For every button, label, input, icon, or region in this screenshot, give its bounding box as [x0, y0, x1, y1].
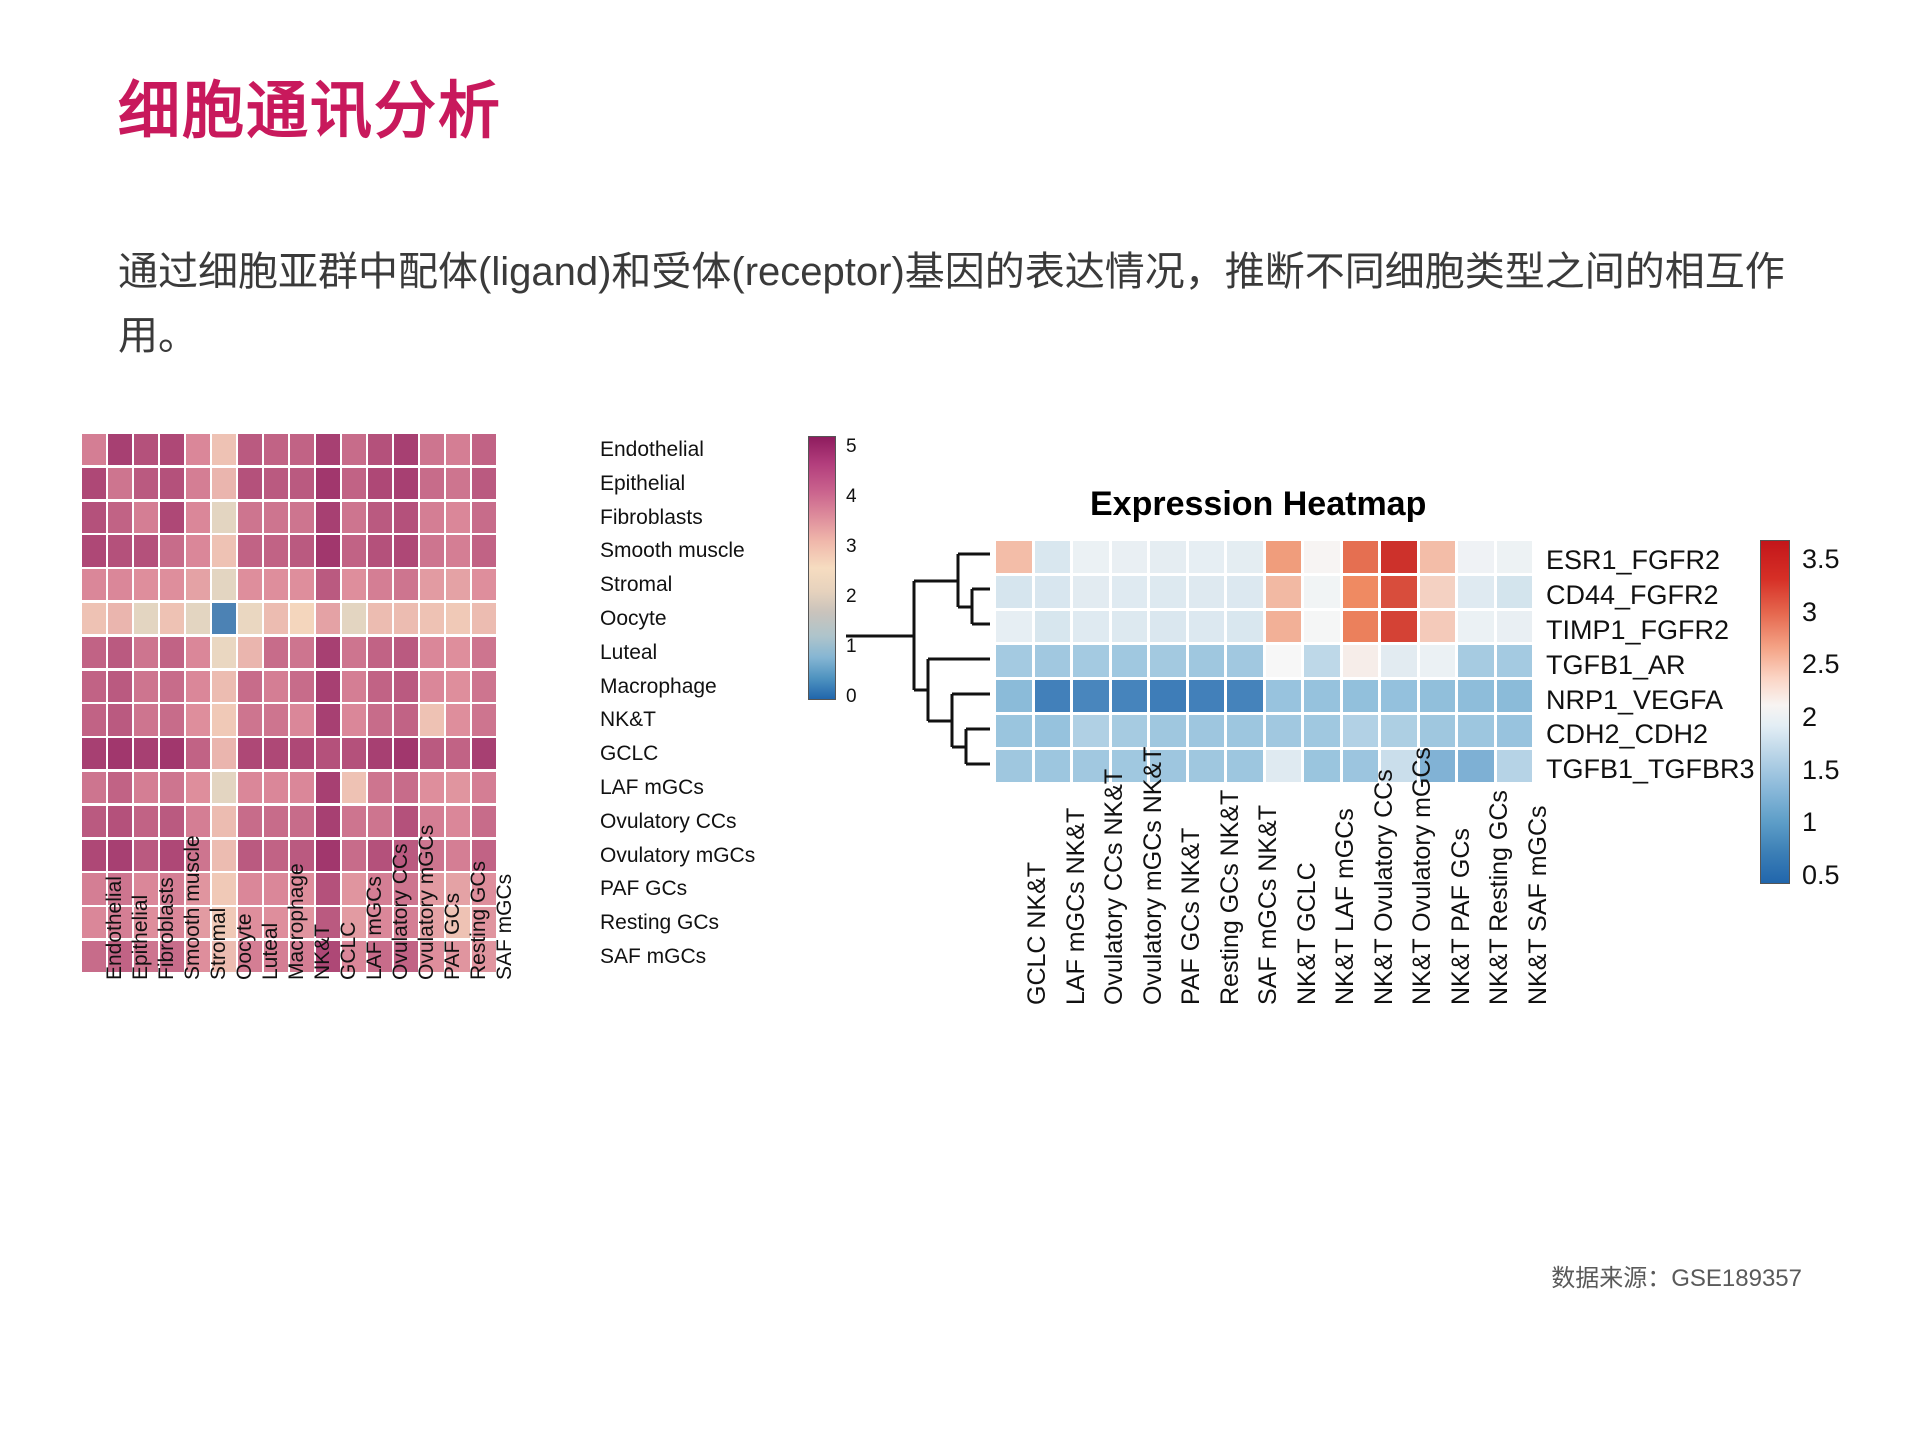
heatmap-cell[interactable]: [996, 611, 1032, 643]
heatmap-cell[interactable]: [264, 772, 288, 803]
heatmap-cell[interactable]: [316, 671, 340, 702]
heatmap-cell[interactable]: [368, 468, 392, 499]
heatmap-cell[interactable]: [1227, 680, 1263, 712]
heatmap-cell[interactable]: [264, 806, 288, 837]
heatmap-cell[interactable]: [1035, 715, 1071, 747]
heatmap-cell[interactable]: [342, 806, 366, 837]
heatmap-cell[interactable]: [1227, 576, 1263, 608]
heatmap-cell[interactable]: [1304, 750, 1340, 782]
heatmap-cell[interactable]: [446, 637, 470, 668]
heatmap-cell[interactable]: [1381, 576, 1417, 608]
heatmap-cell[interactable]: [82, 941, 106, 972]
heatmap-cell[interactable]: [238, 738, 262, 769]
heatmap-cell[interactable]: [82, 603, 106, 634]
heatmap-cell[interactable]: [186, 738, 210, 769]
heatmap-cell[interactable]: [186, 637, 210, 668]
heatmap-cell[interactable]: [1150, 645, 1186, 677]
heatmap-cell[interactable]: [342, 603, 366, 634]
heatmap-cell[interactable]: [446, 772, 470, 803]
heatmap-cell[interactable]: [394, 637, 418, 668]
heatmap-cell[interactable]: [316, 502, 340, 533]
heatmap-cell[interactable]: [1304, 576, 1340, 608]
heatmap-cell[interactable]: [368, 738, 392, 769]
heatmap-cell[interactable]: [1266, 680, 1302, 712]
heatmap-cell[interactable]: [1112, 645, 1148, 677]
heatmap-cell[interactable]: [238, 840, 262, 871]
heatmap-cell[interactable]: [1150, 576, 1186, 608]
heatmap-cell[interactable]: [1343, 715, 1379, 747]
heatmap-cell[interactable]: [342, 840, 366, 871]
heatmap-cell[interactable]: [420, 603, 444, 634]
heatmap-cell[interactable]: [472, 434, 496, 465]
heatmap-cell[interactable]: [134, 840, 158, 871]
heatmap-cell[interactable]: [1189, 680, 1225, 712]
heatmap-cell[interactable]: [446, 704, 470, 735]
heatmap-cell[interactable]: [1497, 576, 1533, 608]
heatmap-cell[interactable]: [290, 772, 314, 803]
heatmap-cell[interactable]: [1112, 576, 1148, 608]
heatmap-cell[interactable]: [212, 704, 236, 735]
heatmap-cell[interactable]: [186, 434, 210, 465]
heatmap-cell[interactable]: [108, 772, 132, 803]
heatmap-cell[interactable]: [342, 502, 366, 533]
heatmap-cell[interactable]: [420, 468, 444, 499]
heatmap-cell[interactable]: [1112, 680, 1148, 712]
heatmap-cell[interactable]: [472, 738, 496, 769]
heatmap-cell[interactable]: [1420, 541, 1456, 573]
heatmap-cell[interactable]: [134, 806, 158, 837]
heatmap-cell[interactable]: [394, 806, 418, 837]
heatmap-cell[interactable]: [108, 502, 132, 533]
heatmap-cell[interactable]: [1458, 680, 1494, 712]
heatmap-cell[interactable]: [368, 434, 392, 465]
heatmap-cell[interactable]: [368, 671, 392, 702]
heatmap-cell[interactable]: [82, 434, 106, 465]
heatmap-cell[interactable]: [290, 535, 314, 566]
heatmap-cell[interactable]: [108, 468, 132, 499]
heatmap-cell[interactable]: [1343, 611, 1379, 643]
heatmap-cell[interactable]: [1073, 645, 1109, 677]
heatmap-cell[interactable]: [446, 671, 470, 702]
heatmap-cell[interactable]: [134, 637, 158, 668]
heatmap-cell[interactable]: [108, 569, 132, 600]
heatmap-cell[interactable]: [108, 671, 132, 702]
heatmap-cell[interactable]: [446, 468, 470, 499]
heatmap-cell[interactable]: [420, 637, 444, 668]
heatmap-cell[interactable]: [1381, 715, 1417, 747]
heatmap-cell[interactable]: [82, 772, 106, 803]
heatmap-cell[interactable]: [108, 434, 132, 465]
heatmap-cell[interactable]: [212, 603, 236, 634]
heatmap-cell[interactable]: [264, 840, 288, 871]
heatmap-cell[interactable]: [1266, 576, 1302, 608]
heatmap-cell[interactable]: [1189, 645, 1225, 677]
heatmap-cell[interactable]: [472, 704, 496, 735]
heatmap-cell[interactable]: [1304, 715, 1340, 747]
heatmap-cell[interactable]: [238, 434, 262, 465]
heatmap-cell[interactable]: [472, 535, 496, 566]
heatmap-cell[interactable]: [446, 603, 470, 634]
heatmap-cell[interactable]: [342, 569, 366, 600]
heatmap-cell[interactable]: [290, 671, 314, 702]
heatmap-cell[interactable]: [342, 468, 366, 499]
heatmap-cell[interactable]: [160, 502, 184, 533]
heatmap-cell[interactable]: [212, 772, 236, 803]
heatmap-cell[interactable]: [160, 806, 184, 837]
heatmap-cell[interactable]: [342, 704, 366, 735]
heatmap-cell[interactable]: [1073, 680, 1109, 712]
heatmap-cell[interactable]: [1112, 611, 1148, 643]
heatmap-cell[interactable]: [160, 468, 184, 499]
heatmap-cell[interactable]: [316, 840, 340, 871]
heatmap-cell[interactable]: [1458, 715, 1494, 747]
heatmap-cell[interactable]: [238, 535, 262, 566]
heatmap-cell[interactable]: [264, 671, 288, 702]
heatmap-cell[interactable]: [394, 468, 418, 499]
heatmap-cell[interactable]: [1458, 611, 1494, 643]
heatmap-cell[interactable]: [1189, 541, 1225, 573]
heatmap-cell[interactable]: [1458, 541, 1494, 573]
heatmap-cell[interactable]: [472, 569, 496, 600]
heatmap-cell[interactable]: [1150, 541, 1186, 573]
heatmap-cell[interactable]: [420, 502, 444, 533]
heatmap-cell[interactable]: [1458, 750, 1494, 782]
heatmap-cell[interactable]: [290, 468, 314, 499]
heatmap-cell[interactable]: [394, 603, 418, 634]
heatmap-cell[interactable]: [186, 806, 210, 837]
heatmap-cell[interactable]: [1035, 680, 1071, 712]
heatmap-cell[interactable]: [446, 502, 470, 533]
heatmap-cell[interactable]: [1073, 541, 1109, 573]
heatmap-cell[interactable]: [1266, 715, 1302, 747]
heatmap-cell[interactable]: [1304, 645, 1340, 677]
heatmap-cell[interactable]: [264, 603, 288, 634]
heatmap-cell[interactable]: [160, 535, 184, 566]
heatmap-cell[interactable]: [420, 569, 444, 600]
heatmap-cell[interactable]: [420, 772, 444, 803]
heatmap-cell[interactable]: [1189, 750, 1225, 782]
heatmap-cell[interactable]: [1381, 611, 1417, 643]
heatmap-cell[interactable]: [1035, 611, 1071, 643]
heatmap-cell[interactable]: [316, 603, 340, 634]
heatmap-cell[interactable]: [1381, 680, 1417, 712]
heatmap-cell[interactable]: [238, 569, 262, 600]
heatmap-cell[interactable]: [160, 704, 184, 735]
heatmap-cell[interactable]: [186, 704, 210, 735]
heatmap-cell[interactable]: [368, 637, 392, 668]
heatmap-cell[interactable]: [1227, 611, 1263, 643]
heatmap-cell[interactable]: [238, 704, 262, 735]
heatmap-cell[interactable]: [1343, 680, 1379, 712]
heatmap-cell[interactable]: [316, 434, 340, 465]
heatmap-cell[interactable]: [368, 704, 392, 735]
heatmap-cell[interactable]: [1150, 611, 1186, 643]
heatmap-cell[interactable]: [1266, 750, 1302, 782]
heatmap-cell[interactable]: [134, 434, 158, 465]
heatmap-cell[interactable]: [394, 569, 418, 600]
heatmap-cell[interactable]: [1497, 750, 1533, 782]
heatmap-cell[interactable]: [1035, 645, 1071, 677]
heatmap-cell[interactable]: [446, 806, 470, 837]
heatmap-cell[interactable]: [160, 772, 184, 803]
heatmap-cell[interactable]: [394, 535, 418, 566]
heatmap-cell[interactable]: [1458, 576, 1494, 608]
heatmap-cell[interactable]: [1497, 611, 1533, 643]
heatmap-cell[interactable]: [108, 637, 132, 668]
heatmap-cell[interactable]: [212, 873, 236, 904]
heatmap-cell[interactable]: [996, 576, 1032, 608]
heatmap-cell[interactable]: [446, 434, 470, 465]
heatmap-cell[interactable]: [160, 637, 184, 668]
heatmap-cell[interactable]: [1073, 611, 1109, 643]
heatmap-cell[interactable]: [212, 569, 236, 600]
heatmap-cell[interactable]: [1343, 645, 1379, 677]
heatmap-cell[interactable]: [160, 603, 184, 634]
heatmap-cell[interactable]: [82, 806, 106, 837]
heatmap-cell[interactable]: [1420, 611, 1456, 643]
heatmap-cell[interactable]: [1420, 576, 1456, 608]
heatmap-cell[interactable]: [212, 671, 236, 702]
heatmap-cell[interactable]: [1497, 715, 1533, 747]
heatmap-cell[interactable]: [238, 603, 262, 634]
heatmap-cell[interactable]: [1189, 611, 1225, 643]
heatmap-cell[interactable]: [316, 535, 340, 566]
heatmap-cell[interactable]: [368, 772, 392, 803]
heatmap-cell[interactable]: [446, 840, 470, 871]
heatmap-cell[interactable]: [420, 434, 444, 465]
heatmap-cell[interactable]: [238, 637, 262, 668]
heatmap-cell[interactable]: [238, 468, 262, 499]
heatmap-cell[interactable]: [996, 750, 1032, 782]
heatmap-cell[interactable]: [368, 535, 392, 566]
heatmap-cell[interactable]: [186, 569, 210, 600]
heatmap-cell[interactable]: [996, 645, 1032, 677]
heatmap-cell[interactable]: [212, 840, 236, 871]
heatmap-cell[interactable]: [316, 468, 340, 499]
heatmap-cell[interactable]: [368, 840, 392, 871]
heatmap-cell[interactable]: [472, 637, 496, 668]
heatmap-cell[interactable]: [134, 772, 158, 803]
heatmap-cell[interactable]: [472, 502, 496, 533]
heatmap-cell[interactable]: [134, 502, 158, 533]
heatmap-cell[interactable]: [1112, 541, 1148, 573]
heatmap-cell[interactable]: [472, 671, 496, 702]
heatmap-cell[interactable]: [368, 603, 392, 634]
heatmap-cell[interactable]: [82, 873, 106, 904]
heatmap-cell[interactable]: [134, 468, 158, 499]
heatmap-cell[interactable]: [472, 772, 496, 803]
heatmap-cell[interactable]: [1035, 541, 1071, 573]
heatmap-cell[interactable]: [1035, 576, 1071, 608]
heatmap-cell[interactable]: [290, 569, 314, 600]
heatmap-cell[interactable]: [420, 671, 444, 702]
heatmap-cell[interactable]: [290, 603, 314, 634]
heatmap-cell[interactable]: [1420, 645, 1456, 677]
heatmap-cell[interactable]: [264, 434, 288, 465]
heatmap-cell[interactable]: [996, 680, 1032, 712]
heatmap-cell[interactable]: [316, 569, 340, 600]
heatmap-cell[interactable]: [1227, 645, 1263, 677]
heatmap-cell[interactable]: [1497, 541, 1533, 573]
heatmap-cell[interactable]: [238, 873, 262, 904]
heatmap-cell[interactable]: [1227, 750, 1263, 782]
heatmap-cell[interactable]: [1035, 750, 1071, 782]
heatmap-cell[interactable]: [212, 637, 236, 668]
heatmap-cell[interactable]: [212, 502, 236, 533]
heatmap-cell[interactable]: [472, 806, 496, 837]
heatmap-cell[interactable]: [1381, 645, 1417, 677]
heatmap-cell[interactable]: [342, 738, 366, 769]
expression-heatmap-grid[interactable]: [996, 541, 1535, 785]
heatmap-cell[interactable]: [1420, 680, 1456, 712]
heatmap-cell[interactable]: [394, 434, 418, 465]
heatmap-cell[interactable]: [394, 772, 418, 803]
heatmap-cell[interactable]: [996, 541, 1032, 573]
heatmap-cell[interactable]: [82, 468, 106, 499]
heatmap-cell[interactable]: [238, 502, 262, 533]
heatmap-cell[interactable]: [160, 738, 184, 769]
heatmap-cell[interactable]: [238, 671, 262, 702]
heatmap-cell[interactable]: [108, 806, 132, 837]
heatmap-cell[interactable]: [316, 772, 340, 803]
heatmap-cell[interactable]: [1458, 645, 1494, 677]
heatmap-cell[interactable]: [290, 502, 314, 533]
heatmap-cell[interactable]: [264, 704, 288, 735]
heatmap-cell[interactable]: [420, 738, 444, 769]
heatmap-cell[interactable]: [82, 704, 106, 735]
heatmap-cell[interactable]: [134, 704, 158, 735]
heatmap-cell[interactable]: [368, 569, 392, 600]
heatmap-cell[interactable]: [1497, 645, 1533, 677]
heatmap-cell[interactable]: [108, 603, 132, 634]
heatmap-cell[interactable]: [472, 468, 496, 499]
heatmap-cell[interactable]: [1266, 541, 1302, 573]
heatmap-cell[interactable]: [1150, 680, 1186, 712]
heatmap-cell[interactable]: [290, 704, 314, 735]
heatmap-cell[interactable]: [1497, 680, 1533, 712]
heatmap-cell[interactable]: [1304, 541, 1340, 573]
heatmap-cell[interactable]: [212, 738, 236, 769]
heatmap-cell[interactable]: [394, 671, 418, 702]
heatmap-cell[interactable]: [264, 873, 288, 904]
heatmap-cell[interactable]: [290, 738, 314, 769]
heatmap-cell[interactable]: [212, 806, 236, 837]
heatmap-cell[interactable]: [368, 502, 392, 533]
heatmap-cell[interactable]: [316, 637, 340, 668]
heatmap-cell[interactable]: [316, 704, 340, 735]
heatmap-cell[interactable]: [1304, 680, 1340, 712]
heatmap-cell[interactable]: [342, 772, 366, 803]
heatmap-cell[interactable]: [134, 738, 158, 769]
heatmap-cell[interactable]: [82, 637, 106, 668]
heatmap-cell[interactable]: [1266, 611, 1302, 643]
heatmap-cell[interactable]: [264, 569, 288, 600]
heatmap-cell[interactable]: [1266, 645, 1302, 677]
heatmap-cell[interactable]: [264, 502, 288, 533]
heatmap-cell[interactable]: [108, 738, 132, 769]
heatmap-cell[interactable]: [446, 738, 470, 769]
heatmap-cell[interactable]: [264, 738, 288, 769]
heatmap-cell[interactable]: [186, 502, 210, 533]
heatmap-cell[interactable]: [82, 535, 106, 566]
heatmap-cell[interactable]: [264, 468, 288, 499]
heatmap-cell[interactable]: [238, 806, 262, 837]
heatmap-cell[interactable]: [1189, 576, 1225, 608]
heatmap-cell[interactable]: [420, 704, 444, 735]
heatmap-cell[interactable]: [1304, 611, 1340, 643]
heatmap-cell[interactable]: [394, 704, 418, 735]
heatmap-cell[interactable]: [186, 671, 210, 702]
heatmap-cell[interactable]: [290, 806, 314, 837]
heatmap-cell[interactable]: [316, 806, 340, 837]
heatmap-cell[interactable]: [186, 468, 210, 499]
heatmap-cell[interactable]: [108, 535, 132, 566]
heatmap-cell[interactable]: [160, 569, 184, 600]
heatmap-cell[interactable]: [82, 738, 106, 769]
heatmap-cell[interactable]: [186, 603, 210, 634]
heatmap-cell[interactable]: [212, 535, 236, 566]
heatmap-cell[interactable]: [316, 738, 340, 769]
heatmap-cell[interactable]: [134, 603, 158, 634]
heatmap-cell[interactable]: [82, 840, 106, 871]
heatmap-cell[interactable]: [264, 535, 288, 566]
heatmap-cell[interactable]: [212, 434, 236, 465]
heatmap-cell[interactable]: [342, 434, 366, 465]
heatmap-cell[interactable]: [1073, 715, 1109, 747]
heatmap-cell[interactable]: [394, 502, 418, 533]
heatmap-cell[interactable]: [1343, 576, 1379, 608]
heatmap-cell[interactable]: [1343, 541, 1379, 573]
heatmap-cell[interactable]: [342, 873, 366, 904]
heatmap-cell[interactable]: [108, 840, 132, 871]
heatmap-cell[interactable]: [186, 535, 210, 566]
heatmap-cell[interactable]: [160, 840, 184, 871]
heatmap-cell[interactable]: [82, 907, 106, 938]
heatmap-cell[interactable]: [1189, 715, 1225, 747]
heatmap-cell[interactable]: [1227, 541, 1263, 573]
heatmap-cell[interactable]: [1073, 576, 1109, 608]
heatmap-cell[interactable]: [82, 569, 106, 600]
heatmap-cell[interactable]: [472, 603, 496, 634]
heatmap-cell[interactable]: [134, 569, 158, 600]
heatmap-cell[interactable]: [446, 569, 470, 600]
heatmap-cell[interactable]: [420, 535, 444, 566]
heatmap-cell[interactable]: [342, 637, 366, 668]
heatmap-cell[interactable]: [1227, 715, 1263, 747]
heatmap-cell[interactable]: [316, 873, 340, 904]
heatmap-cell[interactable]: [394, 738, 418, 769]
heatmap-cell[interactable]: [134, 671, 158, 702]
heatmap-cell[interactable]: [134, 535, 158, 566]
heatmap-cell[interactable]: [160, 434, 184, 465]
heatmap-cell[interactable]: [82, 671, 106, 702]
heatmap-cell[interactable]: [996, 715, 1032, 747]
heatmap-cell[interactable]: [368, 806, 392, 837]
heatmap-cell[interactable]: [1150, 715, 1186, 747]
heatmap-cell[interactable]: [342, 671, 366, 702]
heatmap-cell[interactable]: [290, 637, 314, 668]
heatmap-cell[interactable]: [1381, 541, 1417, 573]
heatmap-cell[interactable]: [212, 468, 236, 499]
heatmap-cell[interactable]: [290, 434, 314, 465]
heatmap-cell[interactable]: [1420, 715, 1456, 747]
heatmap-cell[interactable]: [1112, 715, 1148, 747]
heatmap-cell[interactable]: [82, 502, 106, 533]
heatmap-cell[interactable]: [108, 704, 132, 735]
heatmap-cell[interactable]: [186, 772, 210, 803]
heatmap-cell[interactable]: [264, 637, 288, 668]
heatmap-cell[interactable]: [160, 671, 184, 702]
